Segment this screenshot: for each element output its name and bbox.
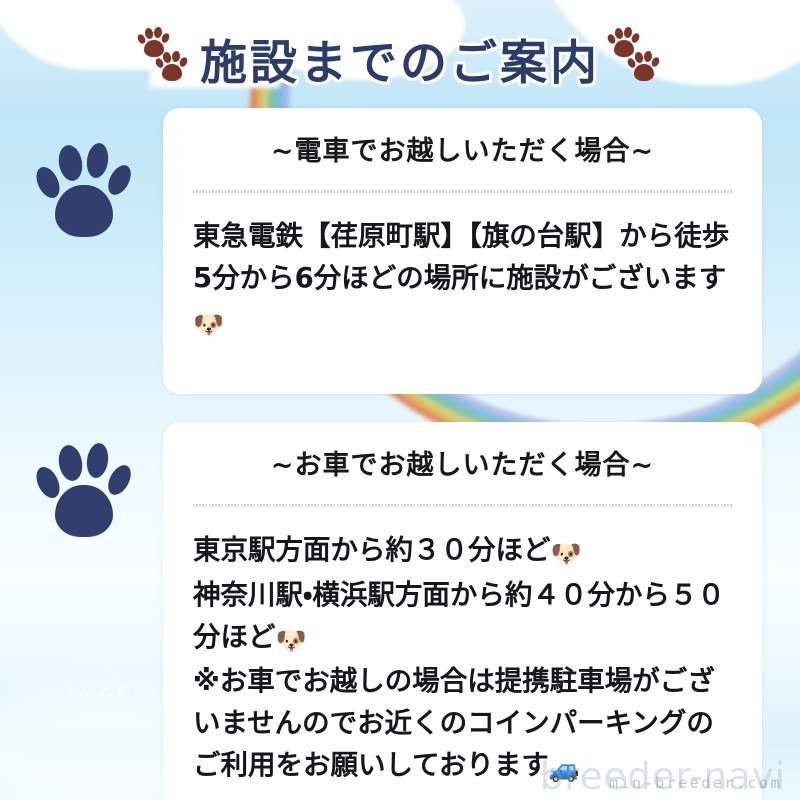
card-body-train-text: 東急電鉄【荏原町駅】【旗の台駅】から徒歩5分から6分ほどの場所に施設がございます — [193, 220, 729, 294]
paw-print-icon — [38, 143, 134, 243]
title-paws-left — [138, 27, 194, 89]
card-body-train: 東急電鉄【荏原町駅】【旗の台駅】から徒歩5分から6分ほどの場所に施設がございます… — [193, 215, 732, 343]
page-canvas: 施設までのご案内 ~電車でお越しいただく場合~ 東急電鉄【荏原町駅】【旗の台駅】… — [0, 0, 800, 800]
dog-face-icon: 🐶 — [193, 310, 224, 339]
watermark-faint: みんなの — [68, 682, 132, 703]
info-card-train: ~電車でお越しいただく場合~ 東急電鉄【荏原町駅】【旗の台駅】から徒歩5分から6… — [163, 108, 762, 394]
title-paws-right — [606, 27, 662, 89]
dog-face-icon: 🐶 — [276, 626, 307, 655]
info-card-car: ~お車でお越しいただく場合~ 東京駅方面から約３０分ほど🐶 神奈川駅・横浜駅方面… — [163, 422, 762, 800]
paw-print-icon — [628, 51, 659, 84]
card-heading-car: ~お車でお越しいただく場合~ — [193, 450, 732, 482]
page-title-row: 施設までのご案内 — [0, 22, 800, 94]
paw-print-icon — [38, 443, 134, 543]
card-body-car-line: 神奈川駅・横浜駅方面から約４０分から５０分ほど🐶 — [193, 574, 732, 660]
card-body-car-line: 東京駅方面から約３０分ほど🐶 — [193, 529, 732, 573]
card-body-car-line-text: 東京駅方面から約３０分ほど — [193, 534, 551, 566]
page-title: 施設までのご案内 — [200, 24, 600, 93]
card-divider — [193, 504, 732, 507]
card-divider — [193, 190, 732, 193]
watermark-secondary: min-breeder.com — [609, 774, 782, 792]
dog-face-icon: 🐶 — [551, 539, 582, 568]
card-body-car: 東京駅方面から約３０分ほど🐶 神奈川駅・横浜駅方面から約４０分から５０分ほど🐶 … — [193, 529, 732, 788]
paw-print-icon — [156, 51, 187, 84]
card-body-car-line-text: 神奈川駅・横浜駅方面から約４０分から５０分ほど — [193, 579, 725, 653]
card-heading-train: ~電車でお越しいただく場合~ — [193, 136, 732, 168]
